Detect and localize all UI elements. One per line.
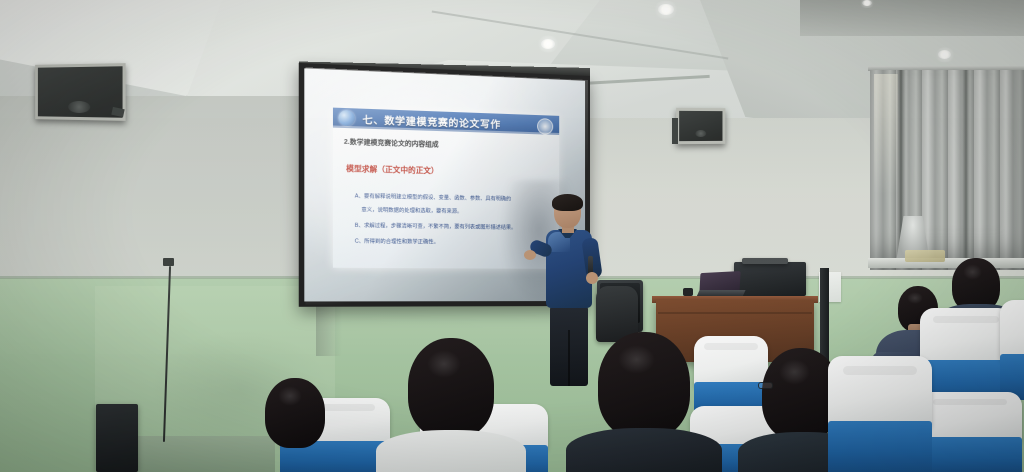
chair-cover-fold	[843, 366, 918, 376]
eyeglasses-icon	[758, 382, 773, 389]
hair-highlight	[779, 359, 810, 385]
hair-highlight	[618, 345, 655, 375]
chair-white-cover	[1000, 300, 1024, 360]
speaker-mount-bracket-right	[672, 118, 678, 144]
window-sill	[868, 258, 1024, 268]
hair-highlight	[907, 292, 923, 305]
ceiling-downlight-icon	[658, 4, 674, 15]
curtain-fold-shadow	[962, 70, 970, 260]
speaker-cone-icon	[68, 101, 90, 113]
podium-wood-grain	[658, 312, 812, 314]
presenter-hair	[552, 194, 583, 211]
av-equipment-knobs	[742, 258, 788, 264]
wall-upper-left	[0, 96, 330, 296]
student-front-left-head	[265, 378, 325, 448]
presenter-left-hand	[524, 250, 536, 260]
chair-blue-seat	[828, 421, 932, 472]
chair-cover-fold	[933, 316, 999, 324]
floor-speaker-box	[96, 404, 138, 472]
hair-highlight	[427, 350, 461, 378]
student-front-center-head	[408, 338, 494, 438]
classroom-photo-scene: 七、数学建模竞赛的论文写作 2.数学建模竞赛论文的内容组成 模型求解（正文中的正…	[0, 0, 1024, 472]
chair-cover-fold	[704, 343, 757, 350]
hair-highlight	[278, 386, 302, 406]
window-daylight	[874, 74, 898, 194]
ceiling-shadow-strip	[800, 0, 1024, 36]
student-front-right-head	[598, 332, 690, 438]
hair-highlight	[963, 264, 982, 279]
chair-cover-fold	[933, 399, 1008, 406]
chair-blue-seat	[918, 437, 1022, 472]
wall-outlet-icon	[163, 258, 174, 266]
wall-speaker-right	[676, 108, 725, 144]
audience-chair-far-right-2	[1000, 300, 1024, 400]
audience-chair-far-right	[920, 308, 1012, 404]
ceiling-downlight-icon	[938, 50, 951, 59]
sill-objects	[905, 250, 945, 262]
audience-chair-mid-right	[918, 392, 1022, 472]
desk-small-object	[683, 288, 693, 296]
audience-chair-front-right	[828, 356, 932, 472]
ceiling-downlight-icon	[862, 0, 872, 6]
presenter-leg-seam	[568, 330, 570, 386]
speaker-cone-icon	[695, 130, 706, 137]
student-front-right-shoulders	[566, 428, 722, 472]
student-front-center-shoulders	[376, 430, 526, 472]
ceiling-downlight-icon	[541, 39, 555, 49]
